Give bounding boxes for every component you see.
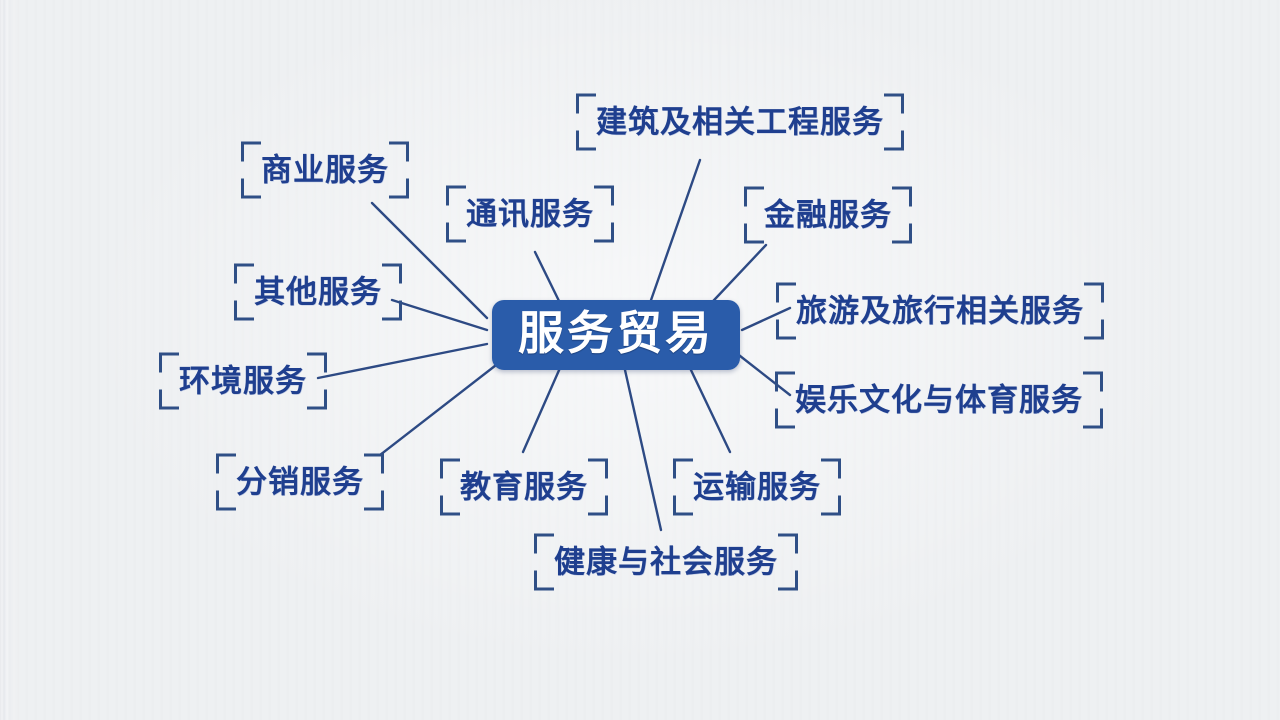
corner-bracket-icon: [884, 94, 904, 114]
corner-bracket-icon: [821, 496, 841, 516]
corner-bracket-icon: [382, 301, 402, 321]
branch-node[interactable]: 其他服务: [234, 264, 402, 321]
corner-bracket-icon: [389, 142, 409, 162]
corner-bracket-icon: [775, 409, 795, 429]
corner-bracket-icon: [892, 187, 912, 207]
corner-bracket-icon: [440, 459, 460, 479]
branch-node[interactable]: 建筑及相关工程服务: [576, 94, 904, 151]
branch-node-label: 通讯服务: [466, 199, 594, 230]
corner-bracket-icon: [216, 491, 236, 511]
corner-bracket-icon: [159, 390, 179, 410]
corner-bracket-icon: [241, 142, 261, 162]
corner-bracket-icon: [778, 571, 798, 591]
corner-bracket-icon: [241, 179, 261, 199]
corner-bracket-icon: [446, 223, 466, 243]
corner-bracket-icon: [892, 224, 912, 244]
branch-node-label: 教育服务: [460, 472, 588, 503]
branch-node-label: 分销服务: [236, 467, 364, 498]
branch-node[interactable]: 娱乐文化与体育服务: [775, 372, 1103, 429]
branch-node[interactable]: 通讯服务: [446, 186, 614, 243]
branch-bracket-frame: 金融服务: [744, 187, 912, 244]
corner-bracket-icon: [673, 496, 693, 516]
corner-bracket-icon: [576, 94, 596, 114]
branch-bracket-frame: 商业服务: [241, 142, 409, 199]
branch-node-label: 运输服务: [693, 472, 821, 503]
branch-bracket-frame: 教育服务: [440, 459, 608, 516]
connector-line: [690, 368, 730, 452]
branch-node[interactable]: 健康与社会服务: [534, 534, 798, 591]
branch-node-label: 旅游及旅行相关服务: [796, 296, 1084, 327]
central-node-label: 服务贸易: [518, 310, 714, 356]
corner-bracket-icon: [588, 496, 608, 516]
corner-bracket-icon: [775, 372, 795, 392]
branch-bracket-frame: 环境服务: [159, 353, 327, 410]
corner-bracket-icon: [534, 534, 554, 554]
corner-bracket-icon: [821, 459, 841, 479]
corner-bracket-icon: [1083, 372, 1103, 392]
corner-bracket-icon: [216, 454, 236, 474]
branch-bracket-frame: 健康与社会服务: [534, 534, 798, 591]
branch-bracket-frame: 其他服务: [234, 264, 402, 321]
branch-node-label: 建筑及相关工程服务: [596, 107, 884, 138]
corner-bracket-icon: [744, 224, 764, 244]
branch-node[interactable]: 教育服务: [440, 459, 608, 516]
corner-bracket-icon: [382, 264, 402, 284]
connector-line: [523, 368, 560, 452]
corner-bracket-icon: [307, 390, 327, 410]
branch-node[interactable]: 金融服务: [744, 187, 912, 244]
corner-bracket-icon: [159, 353, 179, 373]
corner-bracket-icon: [588, 459, 608, 479]
corner-bracket-icon: [1083, 409, 1103, 429]
corner-bracket-icon: [234, 301, 254, 321]
diagram-canvas: 服务贸易 建筑及相关工程服务商业服务通讯服务金融服务其他服务旅游及旅行相关服务环…: [0, 0, 1280, 720]
branch-node-label: 商业服务: [261, 155, 389, 186]
corner-bracket-icon: [744, 187, 764, 207]
corner-bracket-icon: [673, 459, 693, 479]
corner-bracket-icon: [307, 353, 327, 373]
branch-bracket-frame: 分销服务: [216, 454, 384, 511]
corner-bracket-icon: [440, 496, 460, 516]
branch-node-label: 金融服务: [764, 200, 892, 231]
connector-line: [625, 370, 661, 530]
branch-node[interactable]: 环境服务: [159, 353, 327, 410]
corner-bracket-icon: [776, 283, 796, 303]
connector-line: [318, 344, 487, 378]
corner-bracket-icon: [884, 131, 904, 151]
connector-line: [535, 252, 560, 303]
branch-bracket-frame: 娱乐文化与体育服务: [775, 372, 1103, 429]
branch-node[interactable]: 商业服务: [241, 142, 409, 199]
branch-node[interactable]: 旅游及旅行相关服务: [776, 283, 1104, 340]
branch-bracket-frame: 运输服务: [673, 459, 841, 516]
branch-node[interactable]: 分销服务: [216, 454, 384, 511]
corner-bracket-icon: [776, 320, 796, 340]
branch-node-label: 环境服务: [179, 366, 307, 397]
corner-bracket-icon: [1084, 320, 1104, 340]
branch-bracket-frame: 建筑及相关工程服务: [576, 94, 904, 151]
corner-bracket-icon: [778, 534, 798, 554]
corner-bracket-icon: [534, 571, 554, 591]
branch-node-label: 其他服务: [254, 277, 382, 308]
corner-bracket-icon: [594, 186, 614, 206]
corner-bracket-icon: [364, 491, 384, 511]
branch-bracket-frame: 旅游及旅行相关服务: [776, 283, 1104, 340]
central-node-service-trade[interactable]: 服务贸易: [492, 300, 740, 370]
corner-bracket-icon: [364, 454, 384, 474]
connector-line: [650, 160, 700, 303]
corner-bracket-icon: [234, 264, 254, 284]
branch-bracket-frame: 通讯服务: [446, 186, 614, 243]
corner-bracket-icon: [594, 223, 614, 243]
branch-node-label: 健康与社会服务: [554, 547, 778, 578]
corner-bracket-icon: [1084, 283, 1104, 303]
connector-line: [380, 362, 500, 455]
branch-node[interactable]: 运输服务: [673, 459, 841, 516]
corner-bracket-icon: [446, 186, 466, 206]
corner-bracket-icon: [576, 131, 596, 151]
corner-bracket-icon: [389, 179, 409, 199]
branch-node-label: 娱乐文化与体育服务: [795, 385, 1083, 416]
